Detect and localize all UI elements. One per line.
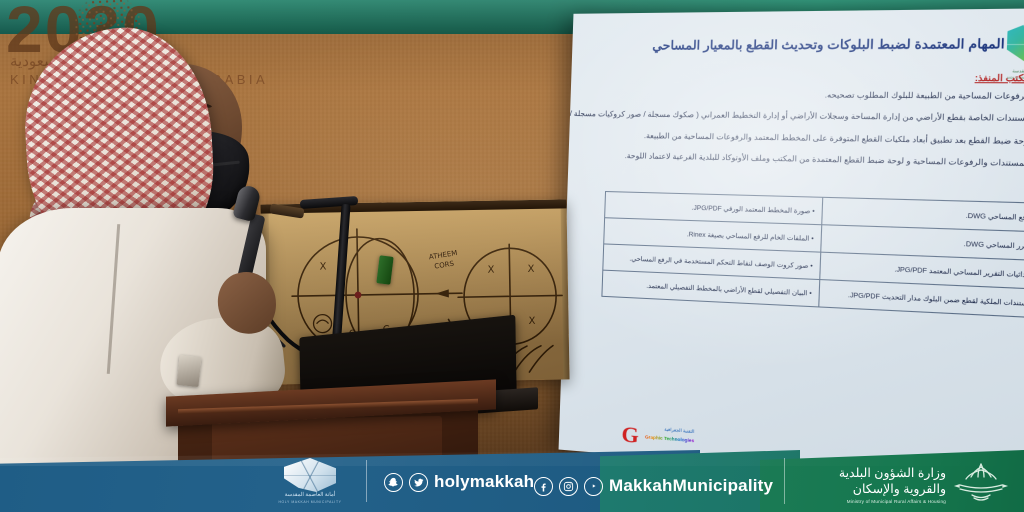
slide-bullet-3: إعداد لوحة ضبط القطع بعد تطبيق أبعاد ملك… [585, 129, 1024, 148]
footer-municipality-english: HOLY MAKKAH MUNICIPALITY [262, 500, 358, 504]
slide-title: المهام المعتمدة لضبط البلوكات وتحديث الق… [648, 35, 1010, 55]
footer-divider-2 [784, 458, 785, 504]
snapchat-icon[interactable] [384, 473, 403, 492]
footer-social-group-holymakkah[interactable]: holymakkah [384, 472, 534, 492]
twitter-icon[interactable] [409, 473, 428, 492]
footer-handle-makkahmunicipality[interactable]: MakkahMunicipality [609, 476, 773, 496]
slide-deliverables-table: ملف الرفع المساحي DWG. صورة المخطط المعت… [601, 191, 1024, 319]
footer-ministry-line1: وزارة الشؤون البلدية [796, 465, 946, 480]
footer-ribbon: أمانة العاصمة المقدسة HOLY MAKKAH MUNICI… [0, 450, 1024, 512]
projection-screen: أمانة العاصمة المقدسة HOLY MAKKAH MUNICI… [559, 8, 1024, 491]
footer-ministry-english: Ministry of Municipal Rural Affairs & Ho… [796, 499, 946, 504]
slide-bullet-2: جمع المستندات الخاصة بقطع الأراضي من إدا… [586, 108, 1024, 125]
footer-municipality-polygon-lines-icon [284, 458, 336, 492]
saudi-palm-swords-emblem-icon [952, 458, 1010, 504]
youtube-icon[interactable] [584, 477, 603, 496]
slide-bullet-1: أعمال الرفوعات المساحية من الطبيعة للبلو… [586, 88, 1024, 103]
facebook-icon[interactable] [534, 477, 553, 496]
vendor-logo-letter-icon: G [621, 423, 639, 447]
slide-section-heading: مهام المكتب المنفذ: [975, 72, 1024, 84]
presenter-badge [176, 355, 201, 387]
slide-content: أمانة العاصمة المقدسة HOLY MAKKAH MUNICI… [559, 8, 1024, 491]
vendor-logo-english: Graphic Technologies [639, 434, 694, 443]
slide-bullet-list: أعمال الرفوعات المساحية من الطبيعة للبلو… [584, 88, 1024, 181]
footer-municipality-arabic: أمانة العاصمة المقدسة [262, 492, 358, 498]
presentation-photo-scene: 2030 المملكة العربية السعودية KINGDOM OF… [0, 0, 1024, 512]
footer-ministry-line2: والقروية والإسكان [796, 481, 946, 496]
footer-municipality-logo: أمانة العاصمة المقدسة HOLY MAKKAH MUNICI… [262, 454, 358, 508]
slide-bullet-4: تقديم المستندات والرفوعات المساحية و لوح… [584, 149, 1024, 170]
footer-divider-1 [366, 460, 367, 502]
instagram-icon[interactable] [559, 477, 578, 496]
footer-handle-holymakkah[interactable]: holymakkah [434, 472, 534, 492]
footer-ministry-block: وزارة الشؤون البلدية والقروية والإسكان M… [796, 465, 946, 504]
footer-social-group-makkahmunicipality[interactable]: MakkahMunicipality [534, 476, 773, 496]
